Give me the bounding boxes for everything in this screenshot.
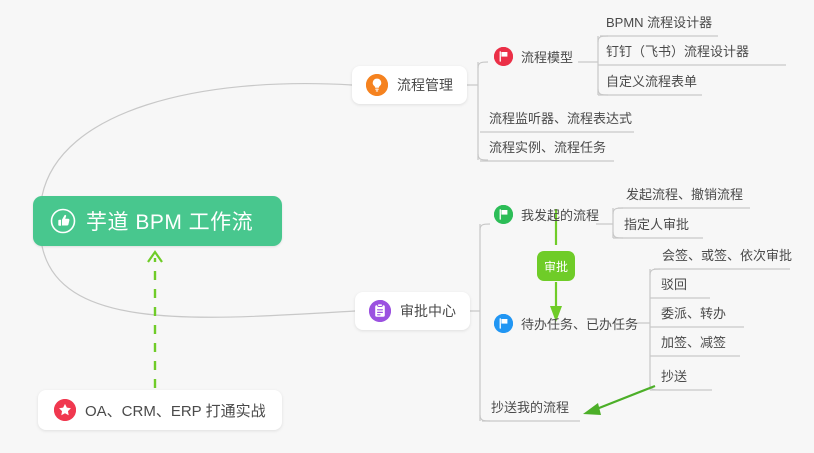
leaf-instance-task[interactable]: 流程实例、流程任务 — [483, 137, 612, 161]
leaf-label-delegate-transfer: 委派、转办 — [661, 303, 726, 322]
root-node[interactable]: 芋道 BPM 工作流 — [33, 196, 282, 246]
leaf-add-remove-sign[interactable]: 加签、减签 — [655, 332, 732, 356]
wire-process-mgmt-spine-top — [478, 62, 488, 68]
leaf-label-listener-expression: 流程监听器、流程表达式 — [489, 108, 632, 127]
leaf-label-add-remove-sign: 加签、减签 — [661, 332, 726, 351]
branch-node-process-mgmt[interactable]: 流程管理 — [352, 66, 467, 104]
leaf-label-bpmn-designer: BPMN 流程设计器 — [606, 12, 712, 31]
wire-approval-center-spine-top — [480, 224, 490, 230]
subnode-my-started[interactable]: 我发起的流程 — [494, 203, 599, 225]
leaf-reject[interactable]: 驳回 — [655, 274, 693, 298]
wire-root-to-process-mgmt — [42, 84, 352, 196]
leaf-delegate-transfer[interactable]: 委派、转办 — [655, 303, 732, 327]
root-label: 芋道 BPM 工作流 — [86, 206, 253, 236]
leaf-listener-expression[interactable]: 流程监听器、流程表达式 — [483, 108, 638, 132]
leaf-cc-to-me[interactable]: 抄送我的流程 — [485, 397, 575, 421]
leaf-label-start-cancel: 发起流程、撤销流程 — [626, 184, 743, 203]
clipboard-icon — [369, 300, 391, 322]
subnode-todo-done[interactable]: 待办任务、已办任务 — [494, 312, 638, 334]
flag-icon — [494, 47, 513, 66]
leaf-bpmn-designer[interactable]: BPMN 流程设计器 — [600, 12, 718, 36]
branch-node-approval-center[interactable]: 审批中心 — [355, 292, 470, 330]
leaf-countersign[interactable]: 会签、或签、依次审批 — [656, 245, 798, 269]
leaf-custom-form[interactable]: 自定义流程表单 — [600, 71, 703, 95]
node-integration[interactable]: OA、CRM、ERP 打通实战 — [38, 390, 282, 430]
leaf-start-cancel[interactable]: 发起流程、撤销流程 — [620, 184, 749, 208]
leaf-label-instance-task: 流程实例、流程任务 — [489, 137, 606, 156]
star-icon — [54, 399, 76, 421]
annotation-integration-arrow — [148, 252, 162, 388]
leaf-label-reject: 驳回 — [661, 274, 687, 293]
leaf-label-cc-to-me: 抄送我的流程 — [491, 397, 569, 416]
subnode-label-my-started: 我发起的流程 — [521, 205, 599, 224]
thumbs-up-icon — [50, 208, 76, 234]
annotation-pill-approval[interactable]: 审批 — [537, 251, 575, 281]
leaf-label-dingtalk-designer: 钉钉（飞书）流程设计器 — [606, 41, 749, 60]
wire-root-to-approval-center — [42, 246, 355, 317]
branch-label-process-mgmt: 流程管理 — [397, 75, 453, 95]
leaf-label-assignee-approve: 指定人审批 — [624, 214, 689, 233]
leaf-label-countersign: 会签、或签、依次审批 — [662, 245, 792, 264]
mindmap-canvas: 芋道 BPM 工作流 流程管理 流程模型 BPMN 流程设计器 钉钉（飞书）流程 — [0, 0, 814, 453]
leaf-label-custom-form: 自定义流程表单 — [606, 71, 697, 90]
lightbulb-icon — [366, 74, 388, 96]
leaf-assignee-approve[interactable]: 指定人审批 — [618, 214, 695, 238]
branch-label-approval-center: 审批中心 — [400, 301, 456, 321]
annotation-pill-label: 审批 — [544, 258, 568, 275]
leaf-label-cc: 抄送 — [661, 366, 687, 385]
subnode-label-process-model: 流程模型 — [521, 47, 573, 66]
subnode-process-model[interactable]: 流程模型 — [494, 45, 573, 67]
subnode-label-todo-done: 待办任务、已办任务 — [521, 314, 638, 333]
flag-icon — [494, 205, 513, 224]
flag-icon — [494, 314, 513, 333]
node-integration-label: OA、CRM、ERP 打通实战 — [85, 400, 266, 421]
annotation-cc-arrow — [583, 386, 655, 415]
leaf-dingtalk-designer[interactable]: 钉钉（飞书）流程设计器 — [600, 41, 755, 65]
leaf-cc[interactable]: 抄送 — [655, 366, 693, 390]
